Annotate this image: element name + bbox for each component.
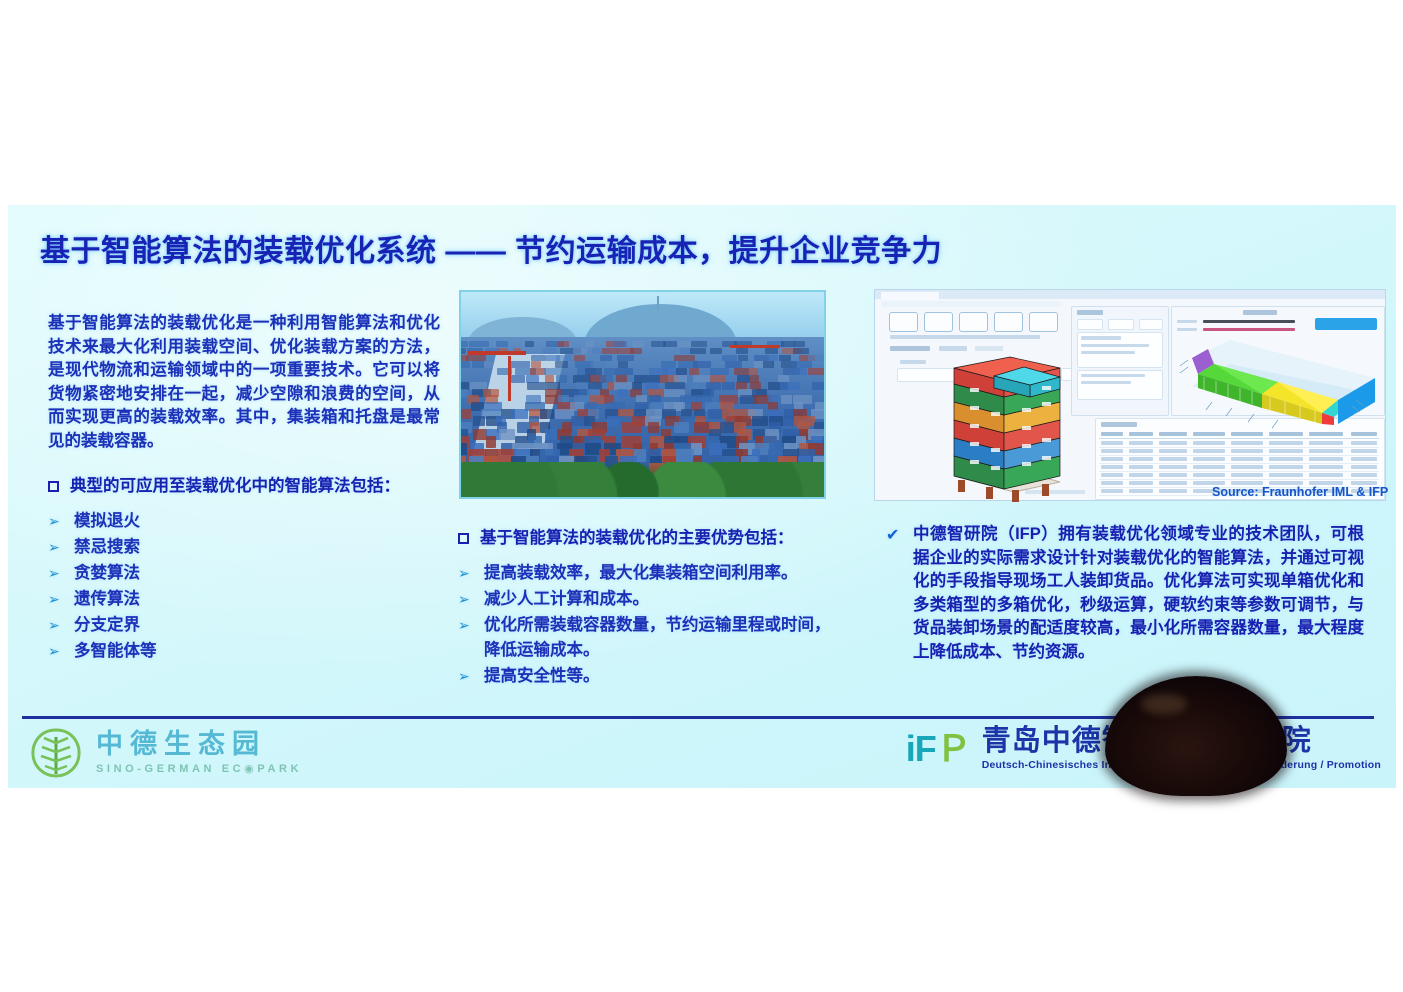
photo-container: [527, 382, 547, 390]
source-credit: Source: Fraunhofer IML & IFP: [1212, 485, 1388, 499]
photo-container: [661, 361, 676, 368]
list-item-label: 模拟退火: [74, 509, 140, 534]
right-paragraph: 中德智研院（IFP）拥有装载优化领域专业的技术团队，可根据企业的实际需求设计针对…: [913, 523, 1364, 664]
photo-container: [693, 361, 711, 368]
legend-label-1: [1177, 320, 1197, 323]
field-label-farbung: [900, 360, 926, 364]
photo-container: [722, 382, 735, 390]
list-item-label: 禁忌搜索: [74, 535, 140, 560]
table-cell: [1129, 441, 1153, 445]
photo-container: [542, 348, 558, 354]
list-item: ➢模拟退火: [48, 509, 440, 534]
arrow-bullet-icon: ➢: [458, 561, 474, 586]
list-item-label: 优化所需装载容器数量，节约运输里程或时间，降低运输成本。: [484, 613, 838, 663]
photo-container: [676, 449, 694, 462]
table-cell: [1101, 489, 1123, 493]
photo-container: [459, 341, 468, 346]
photo-container: [793, 348, 809, 354]
photo-container: [622, 422, 642, 433]
middle-heading: 基于智能算法的装载优化的主要优势包括：: [458, 527, 838, 551]
visualization-panel-title: [1243, 310, 1277, 315]
photo-container: [496, 341, 507, 346]
photo-container: [630, 348, 642, 354]
filter-chip-2[interactable]: [1108, 319, 1134, 330]
photo-container: [466, 355, 486, 361]
list-item: ➢禁忌搜索: [48, 535, 440, 560]
photo-crane-leg: [508, 356, 511, 401]
solution-card-2-line: [1081, 381, 1131, 384]
photo-container: [794, 341, 805, 346]
list-item-label: 减少人工计算和成本。: [484, 587, 649, 612]
arrow-bullet-icon: ➢: [458, 587, 474, 612]
container-load-3d-visualization: [1170, 334, 1385, 430]
table-cell: [1309, 449, 1343, 453]
photo-container: [781, 395, 792, 404]
table-cell: [1351, 465, 1377, 469]
table-cell: [1159, 441, 1187, 445]
ecopark-cn-name: 中德生态园: [96, 731, 302, 758]
photo-container: [459, 361, 470, 368]
table-cell: [1231, 441, 1263, 445]
list-item: ➢提高安全性等。: [458, 664, 838, 689]
photo-container: [824, 416, 826, 426]
photo-container: [769, 355, 778, 361]
photo-container: [793, 361, 813, 368]
photo-container: [531, 355, 547, 361]
list-item: ➢优化所需装载容器数量，节约运输里程或时间，降低运输成本。: [458, 613, 838, 663]
tab-auftragsdaten[interactable]: [890, 346, 930, 351]
table-cell: [1101, 465, 1123, 469]
table-cell: [1231, 473, 1263, 477]
photo-container: [600, 355, 612, 361]
ecopark-en-name: SINO-GERMAN EC◉PARK: [96, 762, 302, 775]
left-paragraph: 基于智能算法的装载优化是一种利用智能算法和优化技术来最大化利用装载空间、优化装载…: [48, 312, 440, 453]
arrow-bullet-icon: ➢: [48, 587, 64, 612]
photo-container: [738, 355, 749, 361]
table-cell: [1101, 481, 1123, 485]
container-port-photo: [459, 290, 826, 499]
solution-card-1-line: [1081, 351, 1135, 354]
table-cell: [1159, 473, 1187, 477]
table-cell: [1351, 449, 1377, 453]
solution-card-2-line: [1081, 374, 1145, 377]
list-item: ➢多智能体等: [48, 639, 440, 664]
photo-container: [573, 348, 587, 354]
left-heading-label: 典型的可应用至装载优化中的智能算法包括：: [70, 475, 400, 499]
photo-container: [602, 348, 618, 354]
list-item: ➢减少人工计算和成本。: [458, 587, 838, 612]
table-cell: [1193, 457, 1225, 461]
left-heading: 典型的可应用至装载优化中的智能算法包括：: [48, 475, 440, 499]
table-cell: [1269, 449, 1303, 453]
table-header-cell: [1269, 432, 1303, 436]
table-cell: [1129, 465, 1153, 469]
table-cell: [1101, 473, 1123, 477]
legend-bar-black: [1203, 320, 1295, 323]
table-header-cell: [1351, 432, 1377, 436]
table-cell: [1129, 449, 1153, 453]
photo-container: [725, 361, 742, 368]
middle-column: 基于智能算法的装载优化的主要优势包括： ➢提高装载效率，最大化集装箱空间利用率。…: [458, 527, 838, 690]
screen: 基于智能算法的装载优化系统 —— 节约运输成本，提升企业竞争力 基于智能算法的装…: [0, 0, 1403, 992]
photo-container: [736, 348, 749, 354]
square-bullet-icon: [48, 481, 59, 492]
photo-container: [484, 361, 493, 368]
browser-tab: [881, 292, 939, 299]
photo-container: [473, 416, 485, 426]
arrow-bullet-icon: ➢: [458, 613, 474, 638]
table-cell: [1101, 449, 1123, 453]
table-cell: [1129, 481, 1153, 485]
photo-crane-beam: [468, 351, 526, 355]
photo-container: [473, 429, 487, 440]
table-header-cell: [1193, 432, 1225, 436]
list-item-label: 分支定界: [74, 613, 140, 638]
right-column: ✔ 中德智研院（IFP）拥有装载优化领域专业的技术团队，可根据企业的实际需求设计…: [886, 523, 1364, 664]
photo-container: [752, 416, 768, 426]
photo-container: [825, 361, 826, 368]
table-cell: [1309, 473, 1343, 477]
export-toolbar-button[interactable]: [1029, 312, 1058, 332]
solution-card-1-title: [1081, 336, 1121, 340]
leaf-icon: Ｐ: [936, 728, 971, 769]
table-cell: [1309, 457, 1343, 461]
middle-advantages-list: ➢提高装载效率，最大化集装箱空间利用率。 ➢减少人工计算和成本。 ➢优化所需装载…: [458, 561, 838, 689]
table-cell: [1101, 441, 1123, 445]
photo-container: [691, 341, 707, 346]
pallet-3d-visualization: [946, 356, 1068, 502]
home-toolbar-button[interactable]: [889, 312, 918, 332]
table-title: [1101, 422, 1137, 427]
photo-container: [825, 395, 826, 404]
list-item-label: 贪婪算法: [74, 561, 140, 586]
list-item: ➢贪婪算法: [48, 561, 440, 586]
table-cell: [1159, 465, 1187, 469]
browser-chrome-bar: [875, 290, 1385, 299]
photo-container: [511, 375, 525, 383]
tree-icon: [28, 727, 84, 779]
ifp-wordmark: iFＰ: [906, 731, 971, 767]
filter-chip-3[interactable]: [1139, 319, 1163, 330]
photo-container: [618, 361, 628, 368]
table-header-cell: [1231, 432, 1263, 436]
table-header-cell: [1309, 432, 1343, 436]
photo-container: [808, 368, 824, 375]
photo-container: [710, 348, 722, 354]
status-message: [890, 335, 1040, 339]
list-item: ➢遗传算法: [48, 587, 440, 612]
photo-container: [812, 382, 826, 390]
photo-container: [765, 348, 777, 354]
solutions-panel-title: [1077, 310, 1103, 315]
square-bullet-icon: [458, 533, 469, 544]
table-cell: [1351, 473, 1377, 477]
arrow-bullet-icon: ➢: [48, 561, 64, 586]
document-toolbar-button[interactable]: [994, 312, 1023, 332]
photo-container: [763, 361, 774, 368]
arrow-bullet-icon: ➢: [48, 535, 64, 560]
list-item-label: 遗传算法: [74, 587, 140, 612]
photo-crane-beam: [730, 345, 781, 348]
photo-container: [781, 341, 795, 346]
photo-container: [754, 355, 769, 361]
photo-container: [511, 409, 527, 419]
table-cell: [1309, 465, 1343, 469]
right-paragraph-block: ✔ 中德智研院（IFP）拥有装载优化领域专业的技术团队，可根据企业的实际需求设计…: [886, 523, 1364, 664]
table-cell: [1159, 489, 1187, 493]
table-cell: [1351, 441, 1377, 445]
list-item-label: 多智能体等: [74, 639, 157, 664]
photo-container: [585, 341, 594, 346]
list-item-label: 提高安全性等。: [484, 664, 600, 689]
legend-label-2: [1177, 328, 1197, 331]
primary-action-button[interactable]: [1315, 318, 1377, 330]
pallet-3d-svg: [946, 356, 1068, 502]
photo-container: [525, 341, 535, 346]
list-item: ➢分支定界: [48, 613, 440, 638]
table-cell: [1193, 465, 1225, 469]
table-cell: [1193, 441, 1225, 445]
table-header-cell: [1159, 432, 1187, 436]
photo-container: [617, 355, 634, 361]
table-header-cell: [1101, 432, 1123, 436]
photo-container: [531, 361, 540, 368]
photo-container: [614, 341, 627, 346]
settings-toolbar-button[interactable]: [924, 312, 953, 332]
photo-container: [555, 361, 568, 368]
table-cell: [1309, 441, 1343, 445]
photo-container: [469, 341, 488, 346]
photo-container: [459, 409, 471, 419]
sino-german-ecopark-logo: 中德生态园 SINO-GERMAN EC◉PARK: [28, 727, 302, 779]
photo-container: [780, 382, 800, 390]
filter-chip-1[interactable]: [1077, 319, 1103, 330]
head-highlight: [1141, 694, 1187, 714]
table-cell: [1269, 465, 1303, 469]
photo-container: [678, 341, 691, 346]
table-cell: [1269, 457, 1303, 461]
photo-container: [722, 355, 737, 361]
legend-bar-pink: [1203, 328, 1295, 331]
list-item: ➢提高装载效率，最大化集装箱空间利用率。: [458, 561, 838, 586]
middle-heading-label: 基于智能算法的装载优化的主要优势包括：: [480, 527, 794, 551]
photo-container: [663, 341, 677, 346]
photo-container: [574, 355, 584, 361]
photo-container: [674, 355, 695, 361]
table-cell: [1159, 449, 1187, 453]
table-cell: [1269, 473, 1303, 477]
slide-title: 基于智能算法的装载优化系统 —— 节约运输成本，提升企业竞争力: [40, 226, 1240, 270]
photo-container: [556, 355, 572, 361]
photo-container: [617, 389, 628, 397]
photo-container: [459, 443, 467, 455]
arrow-bullet-icon: ➢: [48, 639, 64, 664]
table-cell: [1231, 465, 1263, 469]
table-cell: [1269, 441, 1303, 445]
table-cell: [1231, 457, 1263, 461]
table-cell: [1129, 489, 1153, 493]
photo-container: [591, 361, 606, 368]
photo-container: [632, 341, 644, 346]
left-column: 基于智能算法的装载优化是一种利用智能算法和优化技术来最大化利用装载空间、优化装载…: [48, 312, 440, 665]
table-cell: [1129, 473, 1153, 477]
table-cell: [1193, 473, 1225, 477]
table-cell: [1159, 481, 1187, 485]
photo-container: [540, 409, 554, 419]
photo-container: [486, 436, 496, 448]
left-algorithm-list: ➢模拟退火 ➢禁忌搜索 ➢贪婪算法 ➢遗传算法 ➢分支定界 ➢多智能体等: [48, 509, 440, 664]
photo-container: [808, 355, 825, 361]
tab-pakete[interactable]: [939, 346, 967, 351]
info-toolbar-button[interactable]: [959, 312, 988, 332]
photo-container: [499, 429, 515, 440]
table-cell: [1129, 457, 1153, 461]
address-bar: [881, 301, 1061, 307]
photo-container: [779, 355, 791, 361]
photo-container: [690, 348, 706, 354]
list-item-label: 提高装载效率，最大化集装箱空间利用率。: [484, 561, 798, 586]
photo-trees: [461, 462, 824, 497]
table-header-cell: [1129, 432, 1153, 436]
table-cell: [1351, 457, 1377, 461]
table-cell: [1193, 449, 1225, 453]
arrow-bullet-icon: ➢: [48, 509, 64, 534]
photo-container: [459, 348, 466, 354]
photo-container: [796, 368, 807, 375]
photo-container: [510, 361, 530, 368]
check-bullet-icon: ✔: [886, 524, 902, 547]
photo-container: [648, 422, 659, 433]
photo-container: [558, 341, 569, 346]
photo-container: [674, 422, 689, 433]
container-load-3d-svg: [1170, 334, 1385, 430]
table-cell: [1231, 449, 1263, 453]
solution-card-1-line: [1081, 344, 1149, 347]
table-cell: [1159, 457, 1187, 461]
table-cell: [1101, 457, 1123, 461]
arrow-bullet-icon: ➢: [48, 613, 64, 638]
tab-ergebnis[interactable]: [975, 346, 1003, 351]
arrow-bullet-icon: ➢: [458, 664, 474, 689]
photo-mast: [657, 296, 659, 310]
